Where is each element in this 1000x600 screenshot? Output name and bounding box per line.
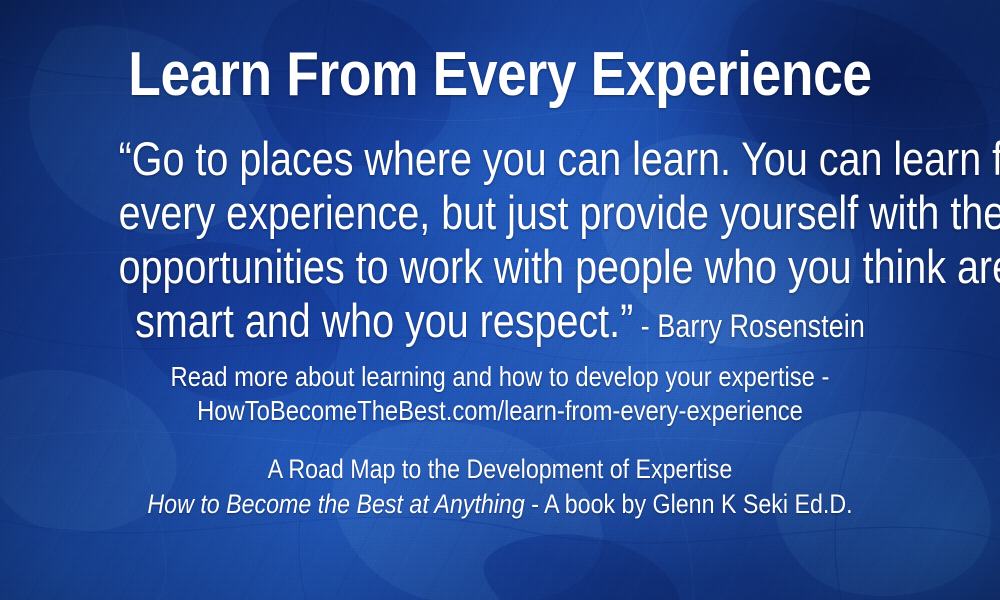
quote-line-with-attribution: smart and who you respect.” - Barry Rose… (119, 294, 882, 353)
quote-attribution: - Barry Rosenstein (633, 308, 865, 344)
quote-poster: Learn From Every Experience “Go to place… (0, 0, 1000, 600)
read-more-prompt: Read more about learning and how to deve… (75, 360, 925, 394)
book-author-byline: - A book by Glenn K Seki Ed.D. (525, 489, 853, 519)
quote-block: “Go to places where you can learn. You c… (46, 132, 954, 353)
book-title: How to Become the Best at Anything (147, 489, 524, 519)
quote-last-line: smart and who you respect.” (135, 294, 633, 347)
book-byline-row: How to Become the Best at Anything - A b… (70, 487, 930, 522)
book-credit-block: A Road Map to the Development of Experti… (0, 452, 1000, 522)
book-subtitle: A Road Map to the Development of Experti… (70, 452, 930, 487)
quote-line: every experience, but just provide yours… (119, 186, 882, 240)
quote-line: opportunities to work with people who yo… (119, 240, 882, 294)
quote-line: “Go to places where you can learn. You c… (119, 132, 882, 186)
website-url[interactable]: HowToBecomeTheBest.com/learn-from-every-… (75, 394, 925, 428)
read-more-block: Read more about learning and how to deve… (0, 360, 1000, 428)
page-title: Learn From Every Experience (70, 44, 930, 106)
poster-content: Learn From Every Experience “Go to place… (0, 0, 1000, 600)
